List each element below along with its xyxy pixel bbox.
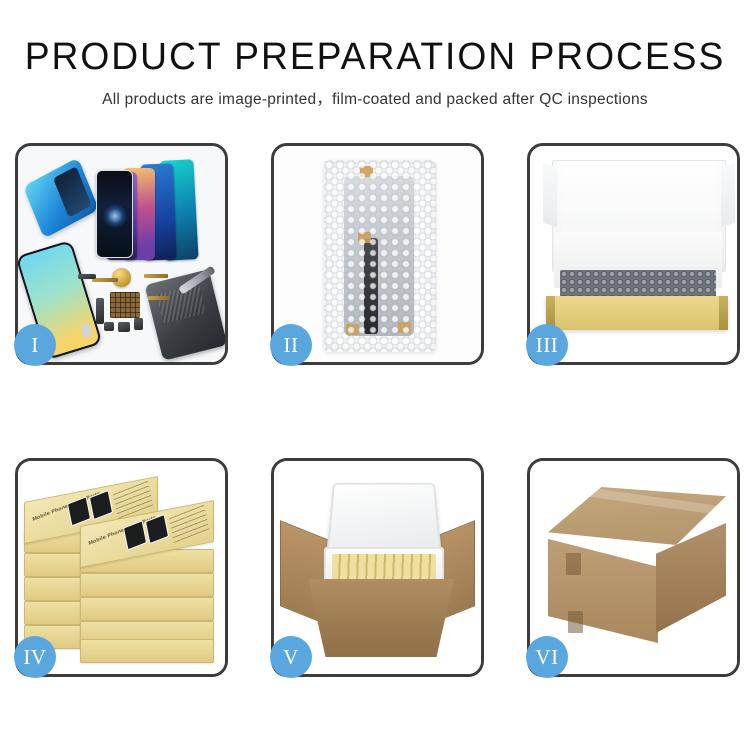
box-spec-lines-front: [169, 505, 209, 543]
carton-tab-lower: [568, 611, 583, 633]
process-step-2: II: [271, 143, 484, 365]
process-step-4: Mobile Phone Spare Parts Mobile Phone Sp…: [15, 458, 228, 677]
small-part-4: [134, 318, 143, 330]
page-title: PRODUCT PREPARATION PROCESS: [8, 0, 743, 78]
wrapped-flex-cable: [364, 238, 378, 334]
process-step-6: VI: [527, 458, 740, 677]
tape-2: [358, 232, 371, 243]
stacked-box-f5: [80, 639, 214, 663]
step-badge-4: IV: [14, 636, 56, 678]
process-step-3: III: [527, 143, 740, 365]
carton-tab-upper: [566, 553, 581, 575]
header: PRODUCT PREPARATION PROCESS All products…: [0, 0, 750, 109]
bubble-wrap-bag-icon: [324, 160, 436, 352]
flex-cable-2: [144, 274, 168, 278]
page-subtitle: All products are image-printed，film-coat…: [0, 78, 750, 109]
box-art-screen-r1: [67, 496, 91, 526]
tape-3: [346, 324, 359, 335]
flex-cable-1: [92, 278, 118, 282]
logic-board-icon: [110, 292, 140, 318]
step-badge-1: I: [14, 324, 56, 366]
process-step-5: V: [271, 458, 484, 677]
small-part-1: [96, 298, 104, 324]
process-step-grid: I II: [15, 143, 735, 677]
step-badge-5: V: [270, 636, 312, 678]
tape-4: [398, 322, 411, 333]
flex-cable-3: [148, 296, 170, 300]
phone-lineup-icon: [96, 152, 225, 260]
kraft-box-base: [546, 296, 728, 330]
small-part-5: [78, 274, 96, 279]
carton-front-face: [548, 531, 658, 643]
step-badge-2: II: [270, 324, 312, 366]
box-stack-icon: Mobile Phone Spare Parts Mobile Phone Sp…: [24, 483, 224, 661]
process-step-1: I: [15, 143, 228, 365]
small-part-2: [104, 322, 114, 331]
styrofoam-lid: [326, 483, 441, 554]
product-preparation-infographic: PRODUCT PREPARATION PROCESS All products…: [0, 0, 750, 750]
screen-protector-film-icon: [23, 157, 99, 238]
stacked-box-f3: [80, 597, 214, 621]
carton-body: [308, 579, 454, 657]
step-badge-3: III: [526, 324, 568, 366]
tape-1: [360, 166, 373, 177]
box-art-screen-f1: [123, 520, 147, 550]
step-badge-6: VI: [526, 636, 568, 678]
small-part-3: [118, 322, 130, 332]
phone-front-glass: [96, 170, 133, 258]
wrapped-screen: [344, 176, 414, 336]
sim-tray-icon: [82, 324, 91, 337]
stacked-box-f2: [80, 573, 214, 597]
